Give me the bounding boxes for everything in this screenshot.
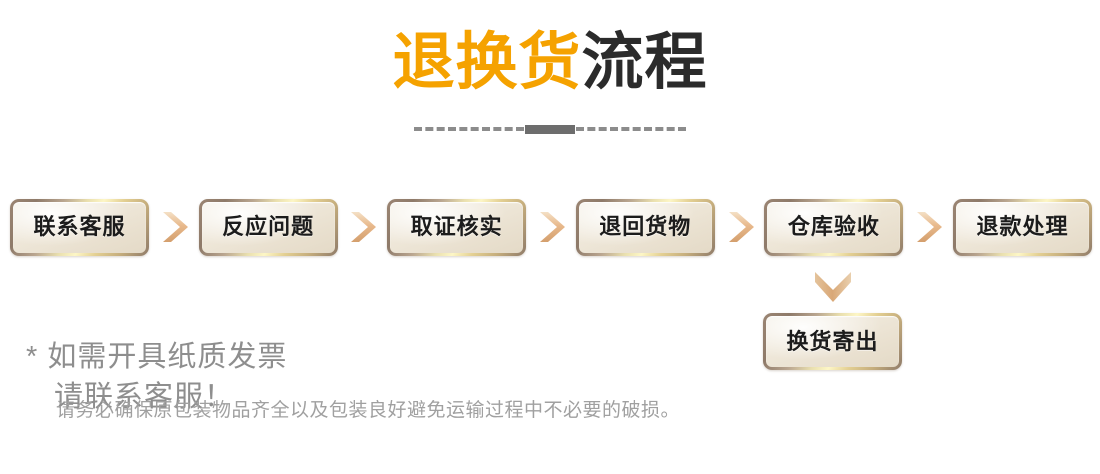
flow-step-inner: 联系客服 bbox=[13, 202, 146, 253]
title-divider bbox=[0, 122, 1100, 136]
flow-step-label: 退回货物 bbox=[599, 216, 691, 238]
asterisk-icon: * bbox=[26, 341, 38, 373]
flow-step-warehouse-inspection[interactable]: 仓库验收 bbox=[764, 199, 903, 256]
flow-step-refund-processing[interactable]: 退款处理 bbox=[953, 199, 1092, 256]
invoice-note-line1: * 如需开具纸质发票 bbox=[26, 341, 287, 373]
chevron-right-icon bbox=[158, 207, 190, 247]
flow-step-exchange-shipout[interactable]: 换货寄出 bbox=[763, 313, 902, 370]
chevron-right-icon bbox=[724, 207, 756, 247]
flow-step-label: 退款处理 bbox=[976, 216, 1068, 238]
flow-step-verify-evidence[interactable]: 取证核实 bbox=[387, 199, 526, 256]
invoice-note: * 如需开具纸质发票 请联系客服！ bbox=[26, 297, 287, 457]
flow-step-label: 仓库验收 bbox=[788, 216, 880, 238]
flow-step-label: 取证核实 bbox=[411, 216, 503, 238]
flow-steps-row: 联系客服 反应问题 取证核实 bbox=[10, 198, 1092, 256]
flow-step-label: 反应问题 bbox=[222, 216, 314, 238]
invoice-note-text1: 如需开具纸质发票 bbox=[47, 341, 287, 373]
flow-step-label: 换货寄出 bbox=[786, 331, 878, 353]
chevron-down-icon bbox=[811, 270, 855, 304]
divider-dash-left bbox=[414, 127, 524, 131]
page-title: 退换货流程 bbox=[0, 28, 1100, 97]
chevron-right-icon bbox=[912, 207, 944, 247]
divider-center-block bbox=[525, 125, 575, 134]
divider-dash-right bbox=[576, 127, 686, 131]
flow-step-inner: 换货寄出 bbox=[766, 316, 899, 367]
chevron-right-icon bbox=[346, 207, 378, 247]
flow-step-inner: 退款处理 bbox=[956, 202, 1089, 253]
flow-step-label: 联系客服 bbox=[33, 216, 125, 238]
packaging-note: 请务必确保原包装物品齐全以及包装良好避免运输过程中不必要的破损。 bbox=[56, 399, 680, 424]
flow-step-return-goods[interactable]: 退回货物 bbox=[576, 199, 715, 256]
flow-step-report-issue[interactable]: 反应问题 bbox=[199, 199, 338, 256]
page-title-plain: 流程 bbox=[582, 28, 708, 97]
flow-step-inner: 仓库验收 bbox=[767, 202, 900, 253]
flow-step-inner: 取证核实 bbox=[390, 202, 523, 253]
flow-step-inner: 退回货物 bbox=[579, 202, 712, 253]
returns-flow-infographic: 退换货流程 联系客服 反应问题 bbox=[0, 0, 1100, 474]
flow-step-contact-support[interactable]: 联系客服 bbox=[10, 199, 149, 256]
chevron-right-icon bbox=[535, 207, 567, 247]
page-title-accent: 退换货 bbox=[392, 28, 581, 97]
flow-step-inner: 反应问题 bbox=[202, 202, 335, 253]
